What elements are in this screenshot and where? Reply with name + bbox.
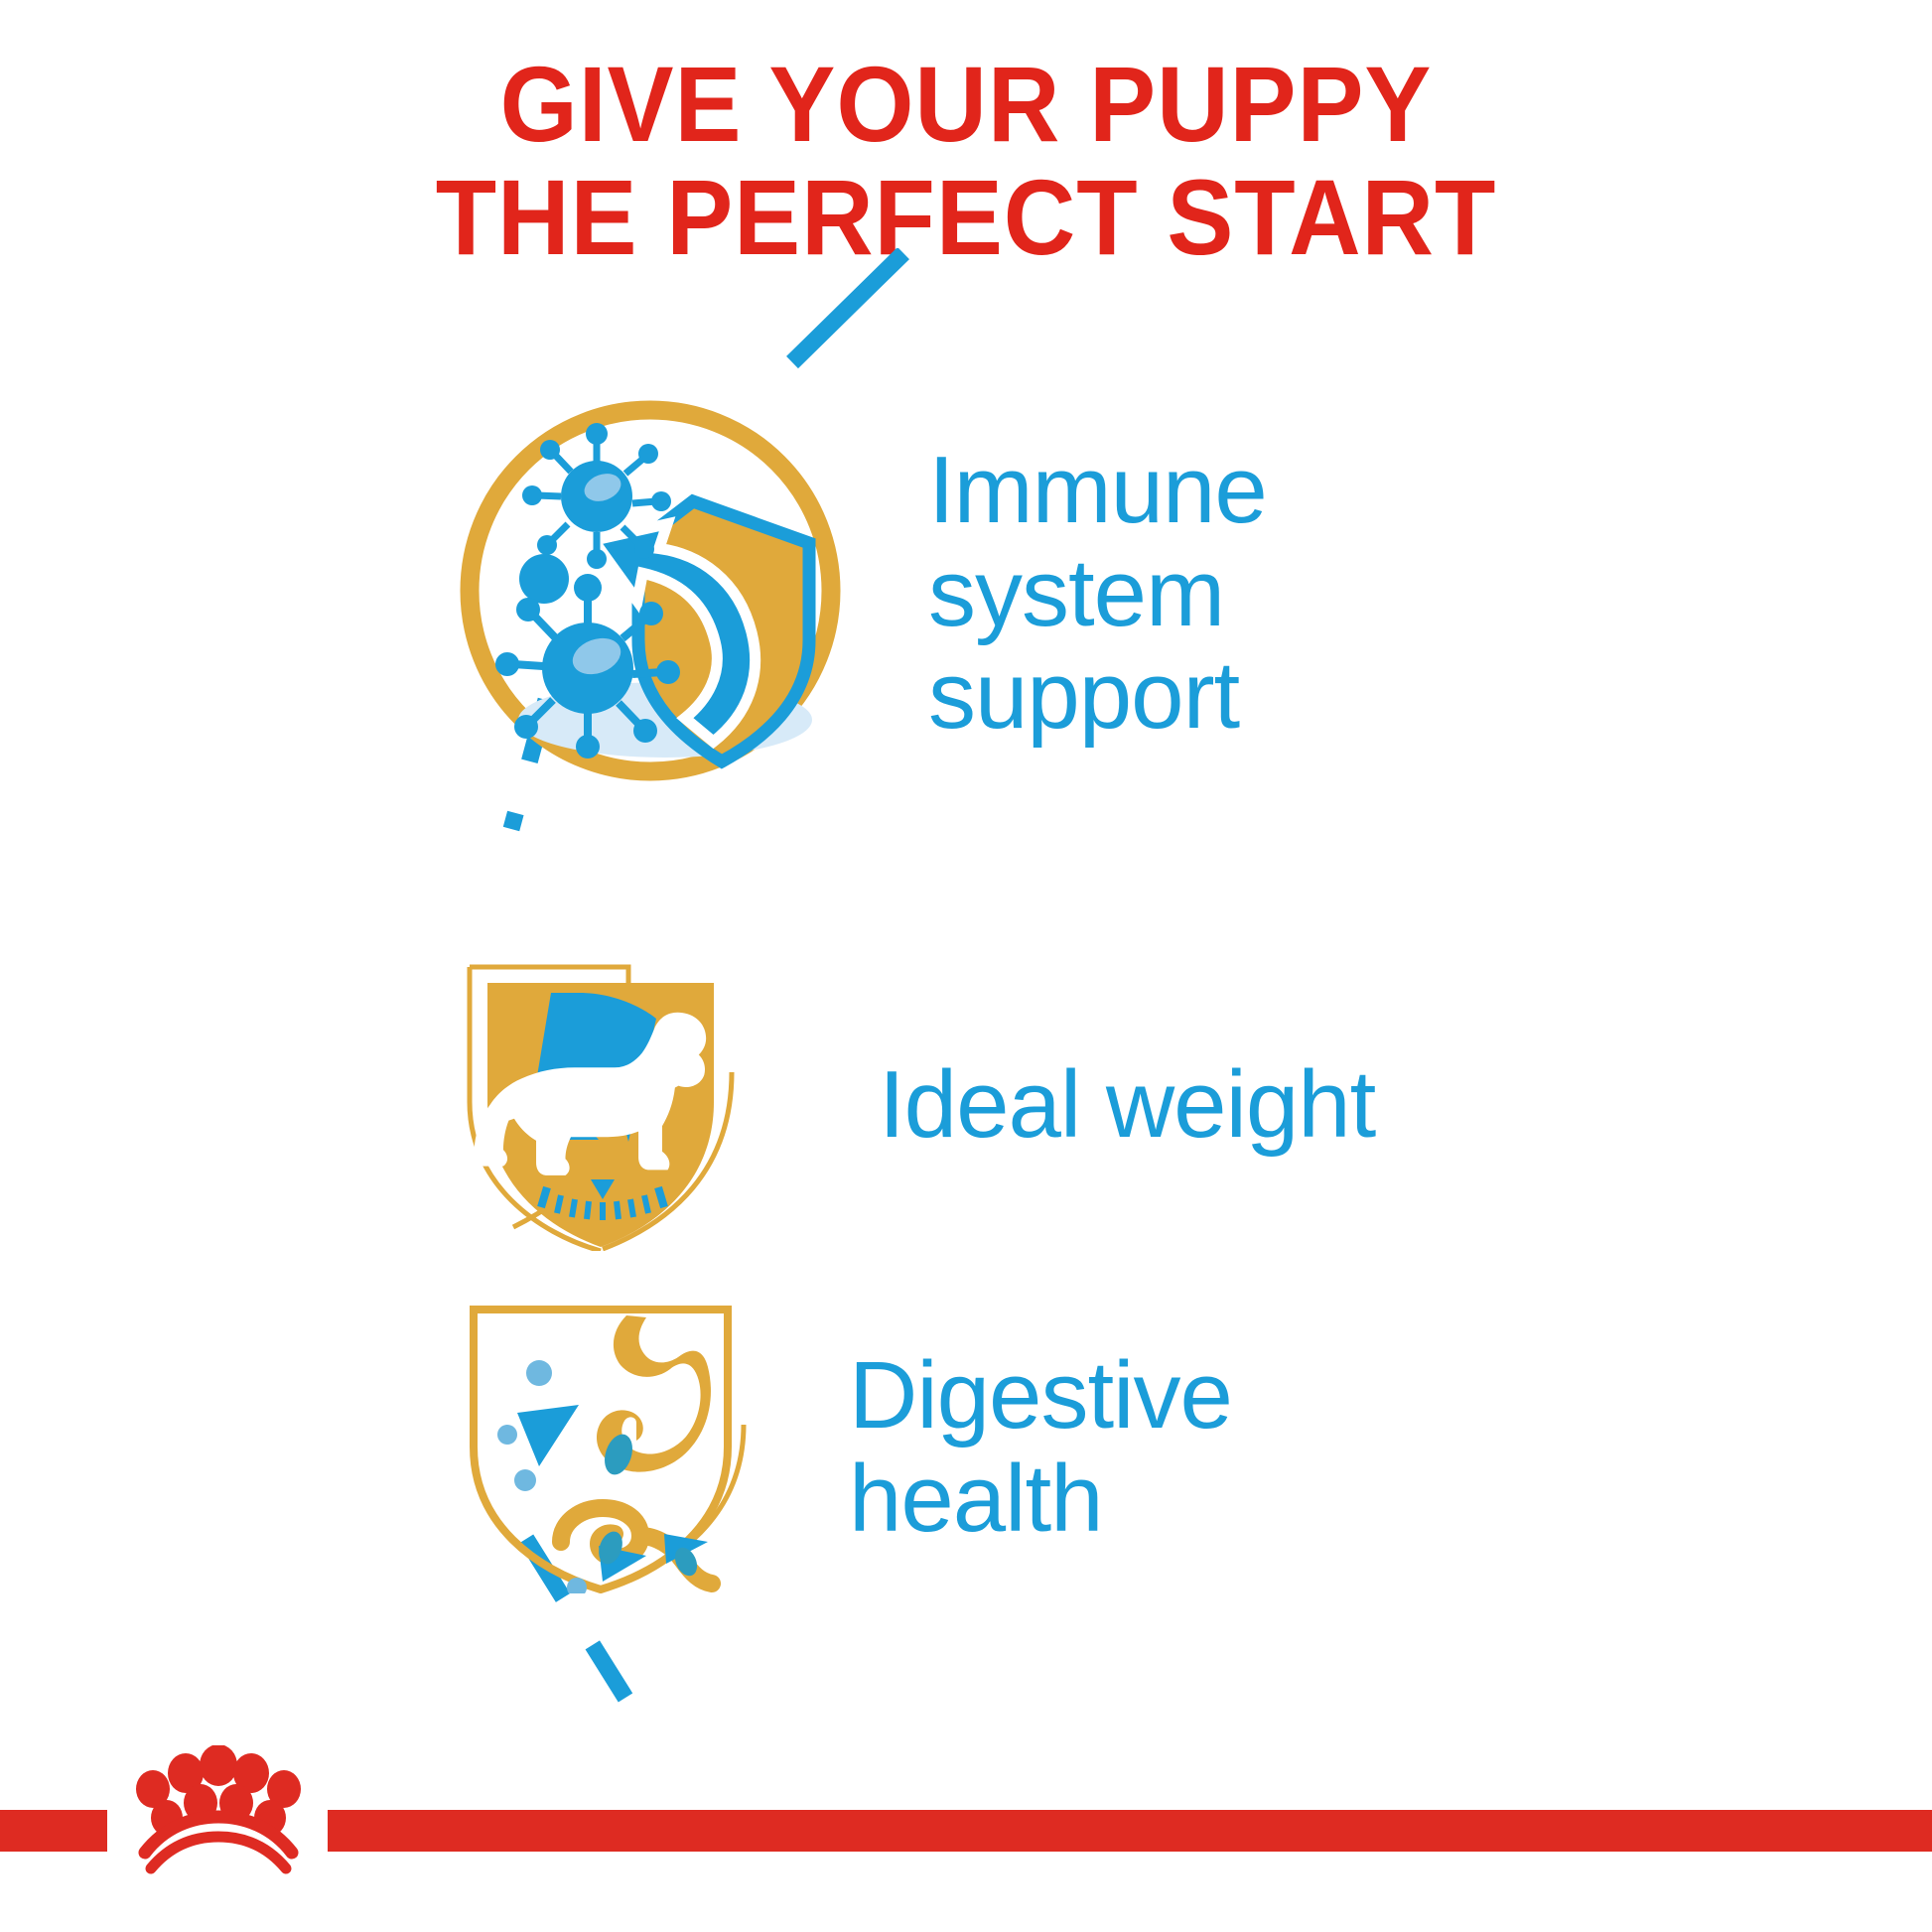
feature-immune-system-support: Immune system support [452,392,1267,794]
germ-icon-1 [522,423,671,569]
page-title: GIVE YOUR PUPPY THE PERFECT START [68,48,1864,275]
brand-bar-left [0,1810,107,1852]
feature-label-weight: Ideal weight [879,1053,1375,1157]
brand-bar-right [328,1810,1932,1852]
feature-label-digest: Digestive health [849,1344,1232,1550]
germ-icon-small [519,554,569,604]
digestive-health-icon [452,1296,750,1598]
nutrient-dots [497,1360,587,1593]
nutrient-arrow-1 [517,1405,579,1466]
feature-digestive-health: Digestive health [452,1296,1232,1598]
feature-ideal-weight: Ideal weight [452,953,1375,1256]
royal-canin-crown-icon [119,1745,318,1874]
page-title-line-1: GIVE YOUR PUPPY [68,48,1864,161]
immune-system-support-icon [452,392,849,794]
page-title-line-2: THE PERFECT START [68,161,1864,274]
feature-label-immune: Immune system support [928,439,1267,748]
ideal-weight-icon [452,953,750,1256]
